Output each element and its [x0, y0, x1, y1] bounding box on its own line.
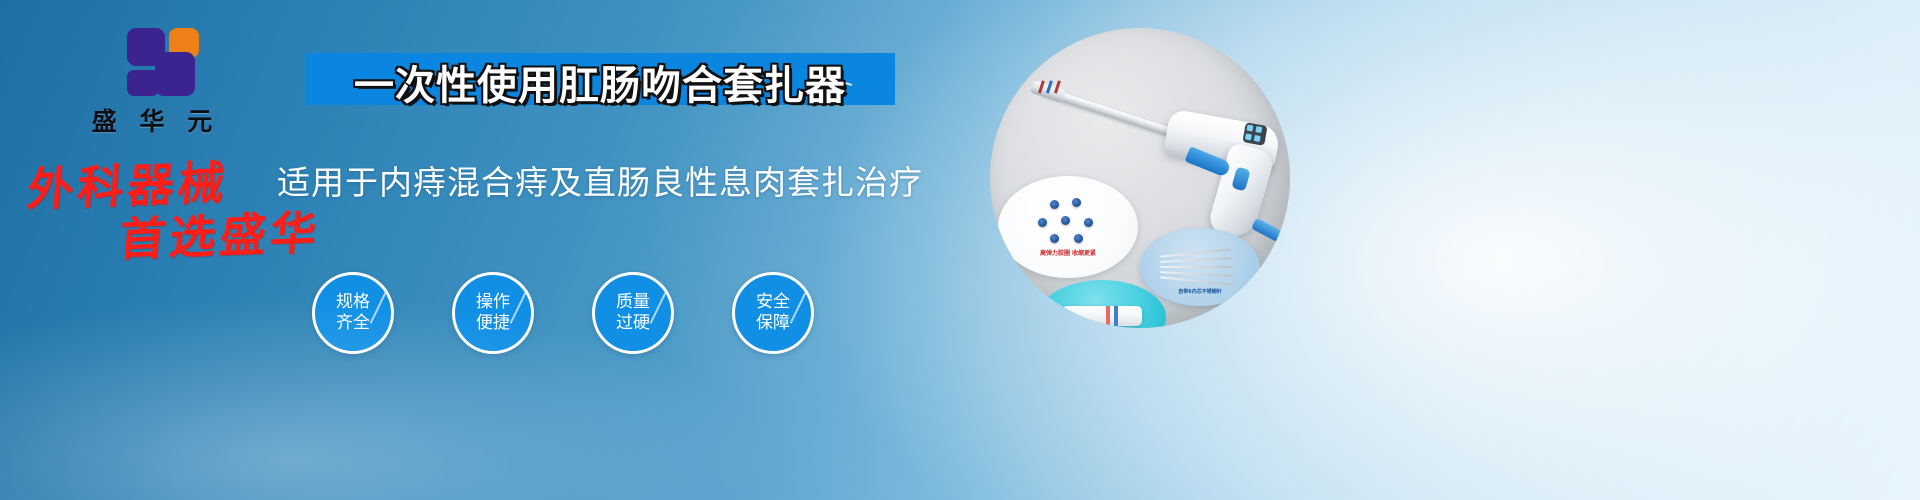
- rubber-band-dot: [1061, 216, 1070, 225]
- feature-label-line-1: 规格: [336, 292, 370, 313]
- product-photo: 高弹力胶圈 收缩更紧 自带6内芯不锈钢针: [990, 28, 1290, 328]
- keypad-key: [1255, 126, 1262, 133]
- tube-band: [1106, 306, 1110, 326]
- needle: [1160, 266, 1232, 268]
- keypad-key: [1254, 135, 1261, 142]
- headline-bar: 一次性使用肛肠吻合套扎器: [305, 53, 895, 105]
- keypad-key: [1245, 133, 1252, 140]
- feature-badge-label: 规格 齐全: [315, 275, 391, 351]
- rubber-band-dot: [1050, 200, 1059, 209]
- feature-badge-label: 操作 便捷: [455, 275, 531, 351]
- tube-tip: [1050, 311, 1064, 321]
- shenghuayuan-logo-icon: [109, 26, 195, 98]
- rubber-band-dot: [1038, 218, 1047, 227]
- feature-label-line-2: 齐全: [336, 313, 370, 334]
- feature-badge-specs[interactable]: 规格 齐全: [312, 272, 394, 354]
- needle: [1160, 271, 1232, 277]
- logo-square-bottom-left: [127, 70, 159, 96]
- feature-badge-operation[interactable]: 操作 便捷: [452, 272, 534, 354]
- rubber-band-dot: [1084, 218, 1093, 227]
- subtitle: 适用于内痔混合痔及直肠良性息肉套扎治疗: [290, 158, 910, 202]
- rubber-band-caption: 高弹力胶圈 收缩更紧: [998, 248, 1138, 257]
- needle: [1160, 257, 1232, 263]
- needle-set-caption: 自带6内芯不锈钢针: [1140, 288, 1260, 295]
- feature-badge-label: 安全 保障: [735, 275, 811, 351]
- device-keypad-icon: [1242, 122, 1267, 146]
- needle-set-inset: 自带6内芯不锈钢针: [1140, 228, 1260, 306]
- needle: [1160, 248, 1232, 258]
- rubber-band-dot: [1050, 234, 1059, 243]
- calligraphy-line-2: 首选盛华: [117, 197, 324, 270]
- brand-logo-block: 盛 华 元: [62, 26, 242, 138]
- keypad-key: [1246, 125, 1253, 132]
- feature-badge-safety[interactable]: 安全 保障: [732, 272, 814, 354]
- feature-badge-group: 规格 齐全 操作 便捷 质量 过硬 安全 保障: [312, 272, 852, 364]
- tube-band: [1114, 306, 1118, 326]
- rubber-band-dot: [1074, 234, 1083, 243]
- feature-label-line-2: 便捷: [476, 313, 510, 334]
- promo-banner: 盛 华 元 外科器械 首选盛华 一次性使用肛肠吻合套扎器 适用于内痔混合痔及直肠…: [0, 0, 1920, 500]
- page-title: 一次性使用肛肠吻合套扎器: [305, 56, 895, 108]
- feature-label-line-1: 质量: [616, 292, 650, 313]
- needle: [1160, 276, 1232, 286]
- feature-badge-quality[interactable]: 质量 过硬: [592, 272, 674, 354]
- feature-label-line-1: 安全: [756, 292, 790, 313]
- feature-label-line-1: 操作: [476, 292, 510, 313]
- feature-label-line-2: 过硬: [616, 313, 650, 334]
- feature-badge-label: 质量 过硬: [595, 275, 671, 351]
- rubber-band-inset: 高弹力胶圈 收缩更紧: [998, 176, 1138, 278]
- device-tail-cap: [1251, 218, 1283, 243]
- disposable-tube: [1062, 306, 1142, 326]
- rubber-band-dot: [1072, 198, 1081, 207]
- logo-square-right: [155, 52, 195, 96]
- company-name: 盛 华 元: [62, 102, 242, 138]
- feature-label-line-2: 保障: [756, 313, 790, 334]
